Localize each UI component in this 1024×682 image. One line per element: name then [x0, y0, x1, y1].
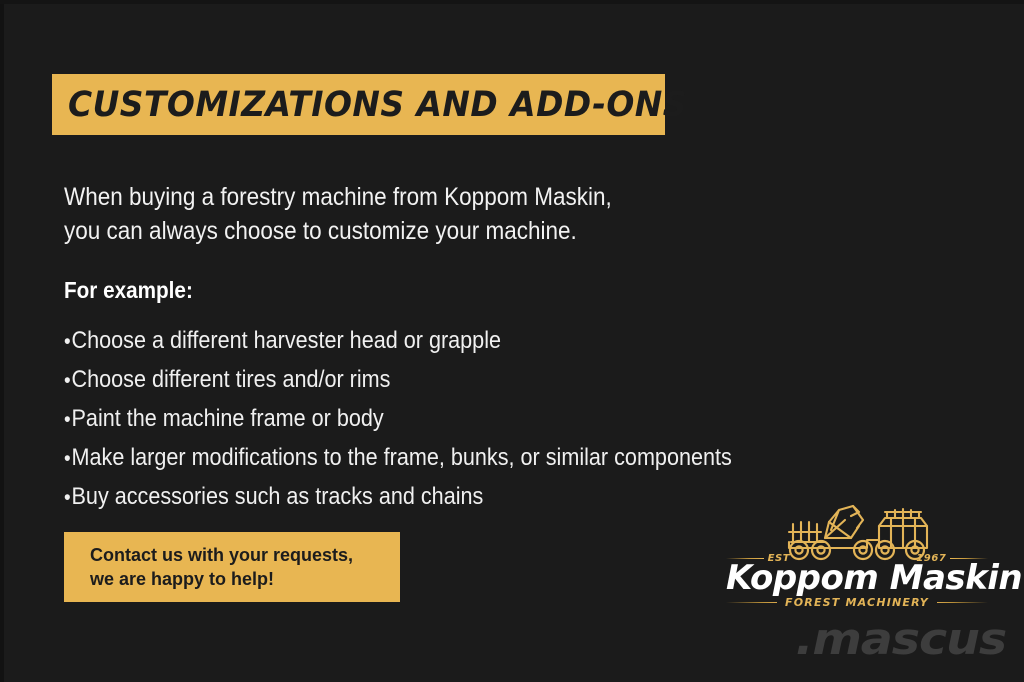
- bullet-dot-icon: •: [64, 362, 71, 400]
- title-banner: CUSTOMIZATIONS AND ADD-ONS: [52, 74, 665, 135]
- bullet-dot-icon: •: [64, 401, 71, 439]
- list-item-label: Paint the machine frame or body: [72, 400, 384, 438]
- logo-wordmark: Koppom Maskin: [726, 558, 988, 598]
- contact-line-1: Contact us with your requests,: [90, 543, 400, 567]
- list-item: • Paint the machine frame or body: [64, 400, 802, 439]
- list-item-label: Make larger modifications to the frame, …: [72, 439, 732, 477]
- list-item: • Choose a different harvester head or g…: [64, 322, 802, 361]
- logo-tagline-rule-right: [937, 602, 988, 603]
- list-item: • Buy accessories such as tracks and cha…: [64, 478, 802, 517]
- koppom-maskin-logo: EST 1967 Koppom Maskin FOREST MACHINERY: [726, 500, 988, 608]
- list-item-label: Choose a different harvester head or gra…: [72, 322, 501, 360]
- intro-line-1: When buying a forestry machine from Kopp…: [64, 180, 748, 214]
- benefits-list: • Choose a different harvester head or g…: [64, 322, 802, 517]
- mascus-watermark: .mascus: [795, 614, 1006, 665]
- bullet-dot-icon: •: [64, 440, 71, 478]
- bullet-dot-icon: •: [64, 479, 71, 517]
- page-title: CUSTOMIZATIONS AND ADD-ONS: [68, 85, 687, 125]
- list-item-label: Choose different tires and/or rims: [72, 361, 391, 399]
- list-item-label: Buy accessories such as tracks and chain…: [72, 478, 484, 516]
- logo-tagline-rule-left: [726, 602, 777, 603]
- forwarder-machine-icon: [767, 500, 947, 562]
- slide-canvas: CUSTOMIZATIONS AND ADD-ONS When buying a…: [0, 0, 1024, 682]
- logo-tagline: FOREST MACHINERY: [785, 596, 929, 609]
- contact-cta-box[interactable]: Contact us with your requests, we are ha…: [64, 532, 400, 602]
- contact-line-2: we are happy to help!: [90, 567, 400, 591]
- intro-paragraph: When buying a forestry machine from Kopp…: [64, 180, 748, 248]
- logo-tagline-row: FOREST MACHINERY: [726, 596, 988, 609]
- intro-line-2: you can always choose to customize your …: [64, 214, 748, 248]
- list-item: • Choose different tires and/or rims: [64, 361, 802, 400]
- for-example-label: For example:: [64, 277, 193, 304]
- list-item: • Make larger modifications to the frame…: [64, 439, 802, 478]
- bullet-dot-icon: •: [64, 323, 71, 361]
